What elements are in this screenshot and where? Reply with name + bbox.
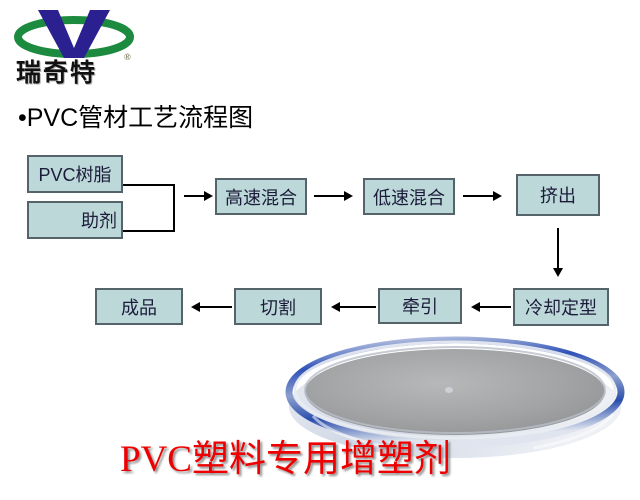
flow-node-cutting: 切割 (234, 288, 322, 325)
flow-node-label: PVC树脂 (38, 161, 111, 187)
connector-bracket-to-high-speed-mix (184, 195, 206, 197)
flow-node-label: 牵引 (402, 293, 438, 319)
flow-node-low-speed-mix: 低速混合 (363, 178, 455, 215)
arrow-left-icon (471, 302, 480, 312)
flow-node-traction: 牵引 (378, 288, 462, 324)
connector-extrusion-to-cooling (557, 228, 559, 270)
flow-node-label: 高速混合 (225, 184, 297, 210)
flow-node-label: 冷却定型 (525, 294, 597, 320)
flow-node-cooling-sizing: 冷却定型 (513, 288, 609, 326)
connector-additives-to-bracket (123, 230, 175, 232)
arrow-right-icon (344, 191, 353, 201)
flow-node-finished-goods: 成品 (95, 288, 183, 325)
product-headline: PVC塑料专用增塑剂 (120, 428, 451, 482)
connector-resin-to-bracket (123, 184, 175, 186)
connector-cutting-to-finished-goods (200, 306, 232, 308)
flow-node-label: 切割 (260, 294, 296, 320)
flow-node-label: 低速混合 (373, 184, 445, 210)
connector-traction-to-cutting (340, 306, 376, 308)
arrow-right-icon (204, 191, 213, 201)
flow-node-extrusion: 挤出 (516, 174, 600, 216)
page-title: •PVC管材工艺流程图 (18, 98, 253, 134)
arrow-left-icon (331, 302, 340, 312)
connector-cooling-to-traction (480, 306, 511, 308)
connector-low-speed-mix-to-extrusion (463, 195, 495, 197)
arrow-left-icon (191, 302, 200, 312)
arrow-down-icon (553, 268, 563, 277)
registered-trademark-icon: ® (124, 52, 131, 62)
connector-high-to-low-speed-mix (314, 195, 346, 197)
flow-node-pvc-resin: PVC树脂 (27, 155, 123, 193)
slide-canvas: 瑞奇特 ® •PVC管材工艺流程图 PVC树脂 助剂 高速混合 低速混合 挤出 … (0, 0, 640, 500)
connector-bracket-vertical (173, 184, 175, 232)
company-logo: 瑞奇特 ® (8, 4, 140, 92)
flow-node-label: 成品 (121, 294, 157, 320)
arrow-right-icon (493, 191, 502, 201)
logo-wordmark: 瑞奇特 (16, 56, 128, 90)
green-ellipse-with-blue-v-logo-icon (8, 4, 140, 62)
flow-node-additives: 助剂 (27, 201, 123, 239)
flow-node-label: 挤出 (540, 182, 576, 208)
flow-node-high-speed-mix: 高速混合 (215, 178, 307, 215)
flow-node-label: 助剂 (81, 207, 117, 233)
